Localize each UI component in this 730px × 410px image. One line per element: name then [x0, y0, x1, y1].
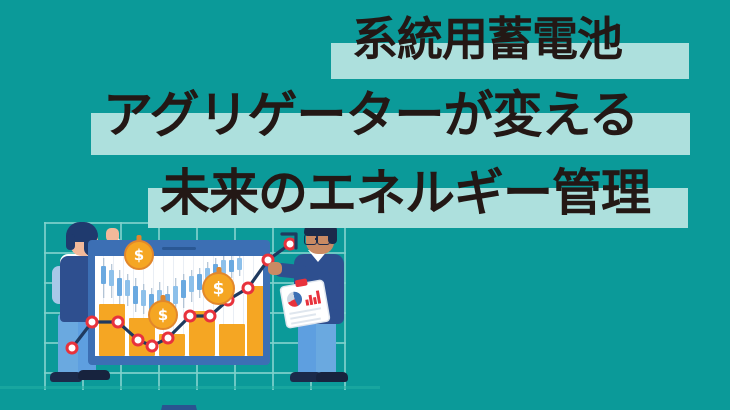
bar	[189, 311, 215, 356]
mini-bar-chart	[304, 289, 322, 306]
monitor	[88, 240, 270, 365]
person-right-manager	[272, 222, 364, 392]
shoe	[78, 370, 110, 380]
coin-dollar: $	[124, 240, 154, 270]
coin-dollar: $	[148, 300, 178, 330]
headline-line-2: アグリゲーターが変える	[103, 86, 638, 144]
coin-label: $	[134, 246, 144, 264]
hand	[268, 262, 282, 275]
headline-line-1: 系統用蓄電池	[352, 13, 622, 65]
monitor-notch	[162, 247, 196, 250]
poster-canvas: $ $ $	[0, 0, 730, 410]
headline-line-3: 未来のエネルギー管理	[160, 165, 650, 221]
clipboard-report	[281, 281, 329, 328]
bar	[247, 286, 263, 356]
shoe	[316, 372, 348, 382]
bar	[159, 334, 185, 356]
pie-chart	[286, 291, 303, 308]
energy-trading-illustration: $ $ $	[0, 200, 380, 410]
glasses-icon	[317, 234, 330, 245]
coin-label: $	[158, 306, 168, 324]
coin-dollar: $	[202, 272, 235, 305]
monitor-neck	[157, 405, 201, 410]
bar	[219, 324, 245, 356]
monitor-screen	[95, 256, 263, 356]
coin-label: $	[213, 279, 225, 299]
clipboard-clip	[295, 278, 308, 287]
bar	[99, 304, 125, 356]
